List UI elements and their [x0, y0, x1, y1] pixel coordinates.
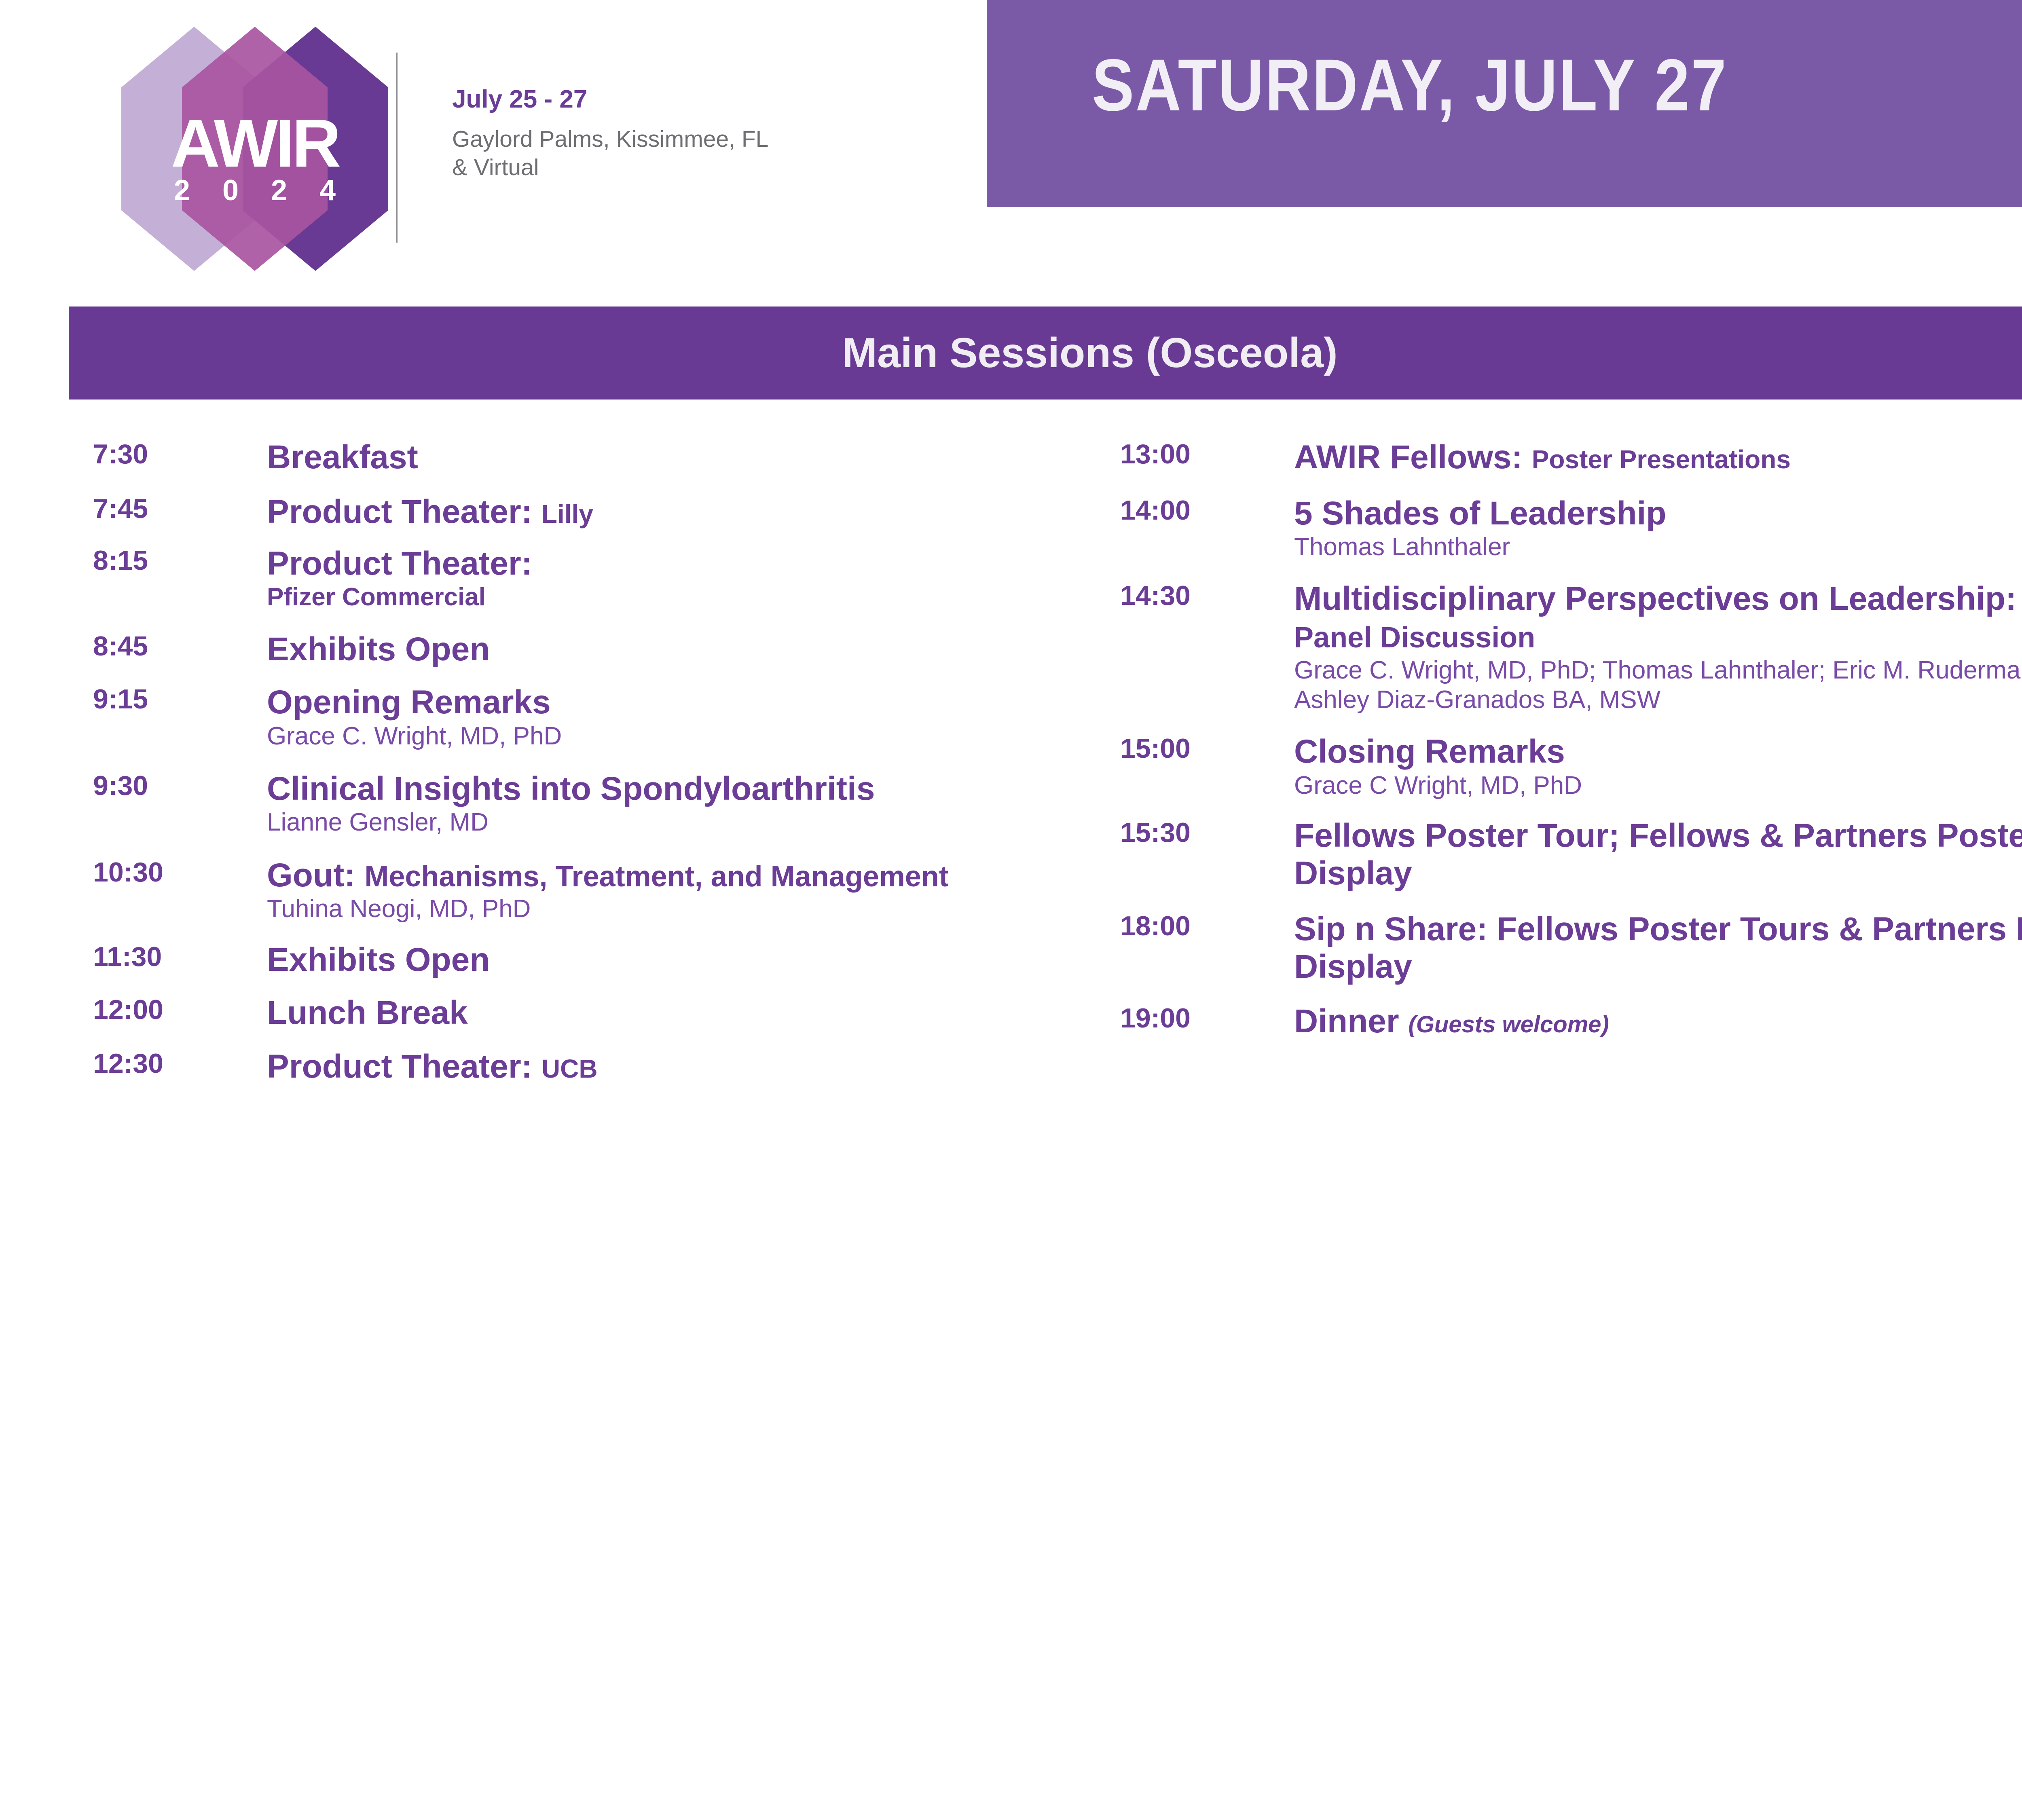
- agenda-session-title: Product Theater:: [267, 545, 1084, 583]
- agenda-row: 8:45Exhibits Open: [93, 631, 1084, 668]
- agenda-detail: Product Theater: Lilly: [267, 493, 1084, 531]
- agenda-row: 12:30Product Theater: UCB: [93, 1048, 1084, 1086]
- agenda-detail: 5 Shades of LeadershipThomas Lahnthaler: [1294, 495, 2022, 562]
- agenda-session-title: Clinical Insights into Spondyloarthritis: [267, 770, 1084, 808]
- agenda-detail: AWIR Fellows: Poster Presentations: [1294, 439, 2022, 476]
- agenda-session-suffix: Poster Presentations: [1532, 445, 1791, 474]
- main-sessions-header: Main Sessions (Osceola): [69, 307, 2022, 400]
- agenda-row: 15:30Fellows Poster Tour; Fellows & Part…: [1120, 817, 2022, 892]
- main-sessions-label: Main Sessions (Osceola): [842, 329, 1337, 377]
- agenda-speaker: Lianne Gensler, MD: [267, 807, 1084, 837]
- agenda-row: 8:15Product Theater:Pfizer Commercial: [93, 545, 1084, 611]
- agenda-row: 19:00Dinner (Guests welcome): [1120, 1003, 2022, 1040]
- agenda-column-morning: 7:30Breakfast7:45Product Theater: Lilly8…: [93, 439, 1084, 1085]
- agenda-row: 15:00Closing RemarksGrace C Wright, MD, …: [1120, 733, 2022, 800]
- agenda-session-title: Sip n Share: Fellows Poster Tours & Part…: [1294, 911, 2022, 985]
- logo-year-text: 2 0 2 4: [137, 174, 372, 207]
- logo-brand-text: AWIR: [137, 104, 372, 182]
- agenda-session-note: (Guests welcome): [1408, 1011, 1609, 1038]
- agenda-session-title: Exhibits Open: [267, 631, 1084, 668]
- agenda-session-suffix: Lilly: [541, 499, 593, 528]
- agenda-speaker: Grace C. Wright, MD, PhD; Thomas Lahntha…: [1294, 655, 2022, 714]
- agenda-session-title: Multidisciplinary Perspectives on Leader…: [1294, 580, 2022, 655]
- agenda-session-title: 5 Shades of Leadership: [1294, 495, 2022, 533]
- agenda-row: 13:00AWIR Fellows: Poster Presentations: [1120, 439, 2022, 476]
- agenda-row: 18:00Sip n Share: Fellows Poster Tours &…: [1120, 911, 2022, 985]
- agenda-time: 14:00: [1120, 495, 1294, 526]
- agenda-row: 14:30Multidisciplinary Perspectives on L…: [1120, 580, 2022, 714]
- agenda-detail: Exhibits Open: [267, 631, 1084, 668]
- agenda-speaker: Grace C. Wright, MD, PhD: [267, 721, 1084, 751]
- agenda-session-title: Lunch Break: [267, 994, 1084, 1032]
- agenda-row: 9:15Opening RemarksGrace C. Wright, MD, …: [93, 684, 1084, 751]
- agenda-time: 18:00: [1120, 911, 1294, 941]
- event-venue: Gaylord Palms, Kissimmee, FL & Virtual: [452, 125, 768, 182]
- agenda-detail: Dinner (Guests welcome): [1294, 1003, 2022, 1040]
- agenda-session-title: Fellows Poster Tour; Fellows & Partners …: [1294, 817, 2022, 892]
- agenda-column-afternoon: 13:00AWIR Fellows: Poster Presentations1…: [1120, 439, 2022, 1040]
- agenda-session-title: Closing Remarks: [1294, 733, 2022, 771]
- agenda-time: 9:15: [93, 684, 267, 714]
- agenda-detail: Clinical Insights into Spondyloarthritis…: [267, 770, 1084, 837]
- agenda-speaker: Grace C Wright, MD, PhD: [1294, 771, 2022, 800]
- agenda-detail: Sip n Share: Fellows Poster Tours & Part…: [1294, 911, 2022, 985]
- event-dates: July 25 - 27: [452, 85, 587, 114]
- agenda-time: 15:00: [1120, 733, 1294, 764]
- agenda-row: 11:30Exhibits Open: [93, 941, 1084, 979]
- agenda-session-title: Gout: Mechanisms, Treatment, and Managem…: [267, 857, 1084, 894]
- agenda-session-subtitle: Pfizer Commercial: [267, 583, 1084, 611]
- header-divider: [396, 53, 398, 243]
- agenda-detail: Product Theater: UCB: [267, 1048, 1084, 1086]
- agenda-time: 10:30: [93, 857, 267, 888]
- agenda-detail: Lunch Break: [267, 994, 1084, 1032]
- agenda-session-title: Product Theater: UCB: [267, 1048, 1084, 1086]
- agenda-session-title: Exhibits Open: [267, 941, 1084, 979]
- agenda-row: 12:00Lunch Break: [93, 994, 1084, 1032]
- agenda-session-suffix: Expert Panel Discussion: [1294, 584, 2022, 654]
- day-title: SATURDAY, JULY 27: [1092, 42, 1728, 127]
- agenda-detail: Multidisciplinary Perspectives on Leader…: [1294, 580, 2022, 714]
- agenda-detail: Fellows Poster Tour; Fellows & Partners …: [1294, 817, 2022, 892]
- agenda-detail: Product Theater:Pfizer Commercial: [267, 545, 1084, 611]
- agenda-time: 19:00: [1120, 1003, 1294, 1034]
- agenda-time: 8:15: [93, 545, 267, 576]
- agenda-speaker: Thomas Lahnthaler: [1294, 532, 2022, 562]
- agenda-session-title: Opening Remarks: [267, 684, 1084, 721]
- agenda-session-title: Dinner (Guests welcome): [1294, 1003, 2022, 1040]
- agenda-time: 9:30: [93, 770, 267, 801]
- agenda-row: 10:30Gout: Mechanisms, Treatment, and Ma…: [93, 857, 1084, 924]
- page-header: SATURDAY, JULY 27 *Draft Agenda AWIR 2 0…: [0, 0, 2022, 226]
- agenda-time: 15:30: [1120, 817, 1294, 848]
- agenda-speaker: Tuhina Neogi, MD, PhD: [267, 894, 1084, 924]
- agenda-time: 7:45: [93, 493, 267, 524]
- agenda-session-suffix: UCB: [541, 1054, 598, 1083]
- agenda-session-title: Product Theater: Lilly: [267, 493, 1084, 531]
- agenda-detail: Exhibits Open: [267, 941, 1084, 979]
- agenda-row: 7:45Product Theater: Lilly: [93, 493, 1084, 531]
- agenda-time: 7:30: [93, 439, 267, 469]
- agenda-time: 12:00: [93, 994, 267, 1025]
- agenda-detail: Gout: Mechanisms, Treatment, and Managem…: [267, 857, 1084, 924]
- awir-logo: AWIR 2 0 2 4: [113, 8, 396, 299]
- agenda-time: 11:30: [93, 941, 267, 972]
- agenda-row: 9:30Clinical Insights into Spondyloarthr…: [93, 770, 1084, 837]
- agenda-session-title: Breakfast: [267, 439, 1084, 476]
- agenda-time: 12:30: [93, 1048, 267, 1079]
- agenda-row: 14:005 Shades of LeadershipThomas Lahnth…: [1120, 495, 2022, 562]
- day-banner: SATURDAY, JULY 27 *Draft Agenda: [987, 0, 2022, 207]
- agenda-time: 14:30: [1120, 580, 1294, 611]
- agenda-time: 8:45: [93, 631, 267, 662]
- agenda-detail: Breakfast: [267, 439, 1084, 476]
- agenda-detail: Opening RemarksGrace C. Wright, MD, PhD: [267, 684, 1084, 751]
- agenda-session-title: AWIR Fellows: Poster Presentations: [1294, 439, 2022, 476]
- agenda-row: 7:30Breakfast: [93, 439, 1084, 476]
- agenda-time: 13:00: [1120, 439, 1294, 469]
- agenda-detail: Closing RemarksGrace C Wright, MD, PhD: [1294, 733, 2022, 800]
- agenda-session-suffix: Mechanisms, Treatment, and Management: [364, 860, 948, 893]
